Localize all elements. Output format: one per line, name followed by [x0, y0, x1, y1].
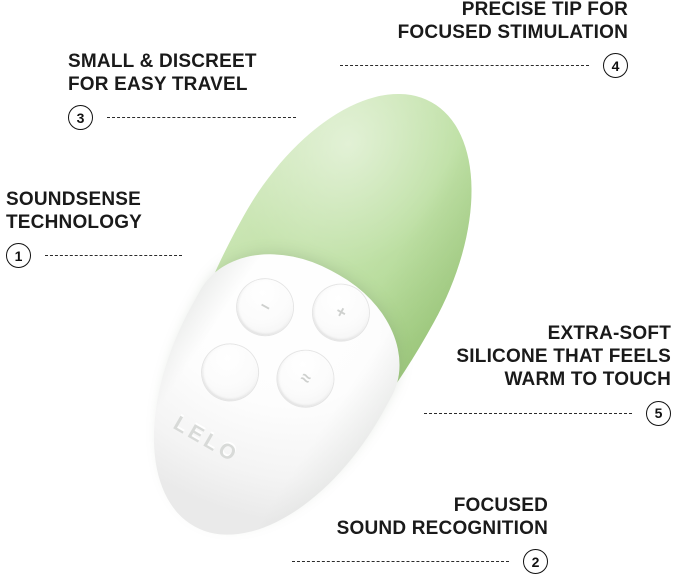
callout-marker-1: 1 — [6, 243, 31, 268]
callout-label: SOUNDSENSE TECHNOLOGY — [6, 188, 182, 234]
callout-extra-soft-silicone: EXTRA-SOFT SILICONE THAT FEELS WARM TO T… — [424, 322, 671, 426]
leader-line — [340, 65, 589, 66]
callout-label: SMALL & DISCREET FOR EASY TRAVEL — [68, 50, 296, 96]
callout-marker-4: 4 — [603, 53, 628, 78]
callout-label: FOCUSED SOUND RECOGNITION — [292, 494, 548, 540]
callout-small-and-discreet: SMALL & DISCREET FOR EASY TRAVEL 3 — [68, 50, 296, 130]
callout-marker-2: 2 — [523, 549, 548, 574]
infographic-canvas: − + ≈ LELO SOUNDSENSE TECHNOLOGY 1 SMALL… — [0, 0, 679, 575]
callout-marker-3: 3 — [68, 105, 93, 130]
callout-focused-sound-recognition: FOCUSED SOUND RECOGNITION 2 — [292, 494, 548, 574]
callout-precise-tip: PRECISE TIP FOR FOCUSED STIMULATION 4 — [340, 0, 628, 78]
callout-marker-5: 5 — [646, 401, 671, 426]
callout-leader: 1 — [6, 243, 182, 268]
callout-label: EXTRA-SOFT SILICONE THAT FEELS WARM TO T… — [424, 322, 671, 392]
callout-leader: 2 — [292, 549, 548, 574]
leader-line — [424, 413, 632, 414]
leader-line — [45, 255, 182, 256]
callout-leader: 4 — [340, 53, 628, 78]
callout-label: PRECISE TIP FOR FOCUSED STIMULATION — [340, 0, 628, 44]
callout-soundsense-technology: SOUNDSENSE TECHNOLOGY 1 — [6, 188, 182, 268]
callout-leader: 5 — [424, 401, 671, 426]
callout-leader: 3 — [68, 105, 296, 130]
leader-line — [292, 561, 509, 562]
product-image: − + ≈ LELO — [110, 66, 520, 558]
leader-line — [107, 117, 296, 118]
